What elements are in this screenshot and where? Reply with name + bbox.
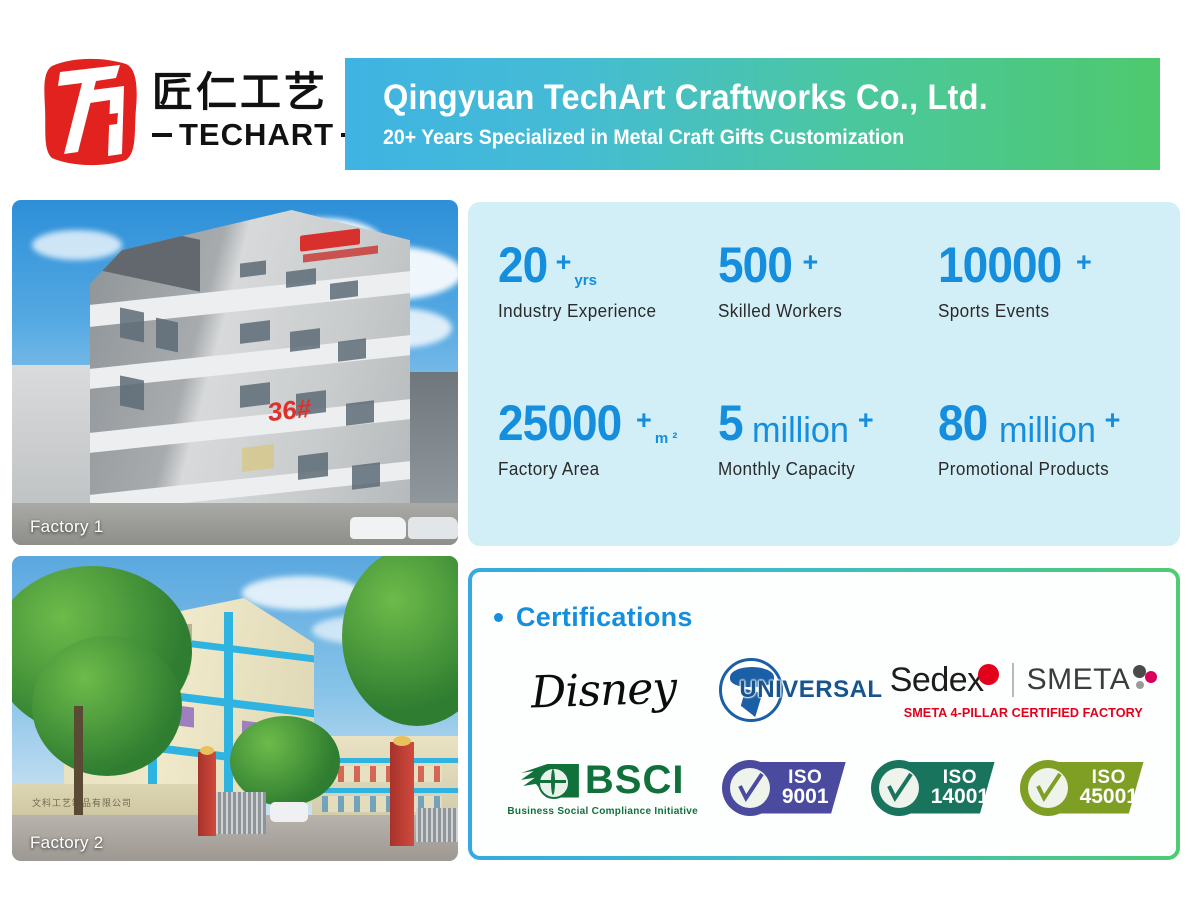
factory-1-caption: Factory 1 [30,517,104,537]
certifications-header: Certifications [494,602,693,633]
factory-gate [416,808,458,842]
stat-value: 10000 + [938,240,1158,290]
smeta-wordmark: SMETA [1027,663,1131,697]
stat-value: 20 + yrs [498,240,718,290]
company-name: Qingyuan TechArt Craftworks Co., Ltd. [383,79,1106,118]
techart-seal-icon [40,56,142,168]
stat-label: Industry Experience [498,301,707,322]
disney-wordmark: Disney [530,662,677,718]
factory-gate [216,792,266,834]
stat-monthly-capacity: 5 million + Monthly Capacity [718,398,938,480]
cert-logo-universal: UNIVERSAL [711,658,891,722]
logo-wordmark: 匠仁工艺 TECHART [152,71,361,152]
cert-logo-iso-14001: ISO 14001 [858,760,1007,816]
stat-number: 80 [938,398,987,448]
stat-factory-area: 25000 + m ² Factory Area [498,398,718,480]
certifications-panel: Certifications Disney UNIVERSAL Sedex [468,568,1180,860]
stat-label: Promotional Products [938,459,1147,480]
cert-logo-iso-45001: ISO 45001 [1007,760,1156,816]
certification-logo-row: Disney UNIVERSAL Sedex SMETA [496,658,1156,722]
factory-2-photo: 文科工艺制品有限公司 Factory 2 [12,556,458,861]
stat-sports-events: 10000 + Sports Events [938,240,1158,322]
universal-wordmark: UNIVERSAL [739,676,882,704]
cert-logo-disney: Disney [496,665,711,716]
bsci-wordmark: BSCI [585,758,685,803]
stat-label: Skilled Workers [718,301,927,322]
company-tagline: 20+ Years Specialized in Metal Craft Gif… [383,126,1106,149]
bsci-tagline: Business Social Compliance Initiative [507,806,698,817]
stat-skilled-workers: 500 + Skilled Workers [718,240,938,322]
bsci-hand-globe-icon [521,760,579,802]
factory-1-building: 36# [90,210,410,545]
stat-plus: + [556,249,572,276]
cloud [32,230,122,260]
gate-pillar [390,742,414,846]
divider [1012,663,1014,697]
smeta-tagline: SMETA 4-PILLAR CERTIFIED FACTORY [904,705,1143,720]
company-profile-page: 匠仁工艺 TECHART Qingyuan TechArt Craftworks… [0,0,1200,900]
stat-value: 80 million + [938,398,1158,448]
bullet-icon [494,613,503,622]
stats-grid: 20 + yrs Industry Experience 500 + Skill… [498,240,1158,480]
stat-plus: + [1105,407,1121,434]
sedex-dot-icon [978,664,999,685]
stat-number: 5 [718,398,743,448]
parked-car [270,802,308,822]
cert-logo-bsci: BSCI Business Social Compliance Initiati… [496,758,709,817]
building-number: 36# [268,393,311,429]
stat-value: 500 + [718,240,938,290]
stat-promotional-products: 80 million + Promotional Products [938,398,1158,480]
iso-seal-icon [1020,760,1076,816]
stat-plus: + [1076,249,1092,276]
stats-row: 20 + yrs Industry Experience 500 + Skill… [498,240,1158,322]
logo-english-row: TECHART [152,117,361,153]
stat-word: million [999,412,1096,448]
iso-seal-icon [871,760,927,816]
logo-chinese-name: 匠仁工艺 [152,71,361,114]
iso-label: ISO [1092,769,1126,787]
iso-number: 9001 [782,787,829,807]
stat-plus: + [858,407,874,434]
stat-value: 5 million + [718,398,938,448]
cert-logo-sedex-smeta: Sedex SMETA SMETA 4-PILLAR CERTIFIED FAC… [891,661,1156,720]
factory-2-caption: Factory 2 [30,833,104,853]
parked-car [350,517,406,539]
gate-pillar [198,752,216,836]
stat-number: 20 [498,240,547,290]
stat-industry-experience: 20 + yrs Industry Experience [498,240,718,322]
stat-word: million [752,412,849,448]
iso-label: ISO [943,769,977,787]
stat-plus: + [802,249,818,276]
smeta-dots-icon [1131,665,1157,695]
certification-logo-row: BSCI Business Social Compliance Initiati… [496,758,1156,817]
certifications-title: Certifications [516,602,693,633]
stat-number: 10000 [938,240,1061,290]
parked-car [408,517,458,539]
stat-value: 25000 + m ² [498,398,718,448]
tree-trunk [74,706,83,826]
logo-english-name: TECHART [179,117,334,153]
page-header: 匠仁工艺 TECHART Qingyuan TechArt Craftworks… [0,0,1200,190]
factory-1-photo: 36# Factory 1 [12,200,458,545]
company-stats-panel: 20 + yrs Industry Experience 500 + Skill… [468,202,1180,546]
cloud [242,576,362,610]
stat-plus: + [636,407,652,434]
stat-number: 25000 [498,398,621,448]
stat-label: Sports Events [938,301,1147,322]
iso-number: 14001 [931,787,989,807]
stat-unit: m ² [655,431,678,446]
logo-dash-left [152,133,172,137]
company-logo: 匠仁工艺 TECHART [40,52,340,172]
cert-logo-iso-9001: ISO 9001 [709,760,858,816]
stat-number: 500 [718,240,792,290]
iso-label: ISO [788,769,822,787]
iso-seal-icon [722,760,778,816]
iso-number: 45001 [1080,787,1138,807]
tree [32,636,182,776]
sedex-wordmark: Sedex [890,661,984,700]
stats-row: 25000 + m ² Factory Area 5 million + Mon… [498,398,1158,480]
company-banner: Qingyuan TechArt Craftworks Co., Ltd. 20… [345,58,1160,170]
stat-label: Monthly Capacity [718,459,927,480]
stat-unit: yrs [574,273,597,288]
stat-label: Factory Area [498,459,707,480]
